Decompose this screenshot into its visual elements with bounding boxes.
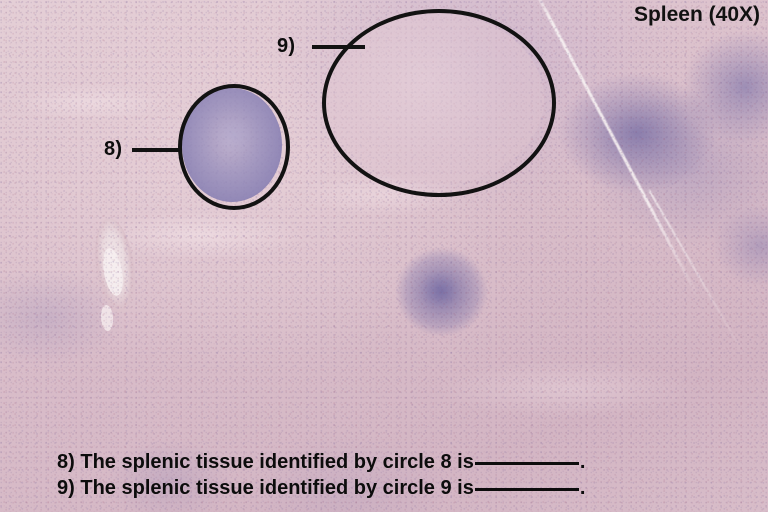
leader-line-9 bbox=[312, 45, 365, 49]
question-line-9: 9) The splenic tissue identified by circ… bbox=[57, 475, 585, 501]
annotation-label-8: 8) bbox=[104, 139, 122, 159]
vessel-lumen bbox=[100, 247, 126, 297]
tissue-fold-line bbox=[528, 0, 700, 299]
question-number-8: 8) bbox=[57, 451, 75, 473]
trabecular-vessel bbox=[90, 216, 141, 316]
slide-title: Spleen (40X) bbox=[634, 3, 760, 26]
leader-line-8 bbox=[132, 148, 182, 152]
annotation-circle-9[interactable] bbox=[322, 9, 556, 197]
question-line-8: 8) The splenic tissue identified by circ… bbox=[57, 449, 585, 475]
annotation-circle-8[interactable] bbox=[178, 84, 290, 210]
annotation-label-9: 9) bbox=[277, 36, 295, 56]
question-text-8: The splenic tissue identified by circle … bbox=[80, 451, 473, 473]
tissue-fold-line-secondary bbox=[648, 190, 745, 356]
question-block: 8) The splenic tissue identified by circ… bbox=[57, 449, 585, 501]
answer-blank-8[interactable] bbox=[475, 462, 579, 465]
question-text-9: The splenic tissue identified by circle … bbox=[80, 477, 473, 499]
vessel-lumen-lower bbox=[100, 305, 114, 332]
question-period-8: . bbox=[580, 451, 586, 473]
question-period-9: . bbox=[580, 477, 586, 499]
answer-blank-9[interactable] bbox=[475, 488, 579, 491]
question-number-9: 9) bbox=[57, 477, 75, 499]
histology-slide-image: 8) 9) Spleen (40X) 8) The splenic tissue… bbox=[0, 0, 768, 512]
